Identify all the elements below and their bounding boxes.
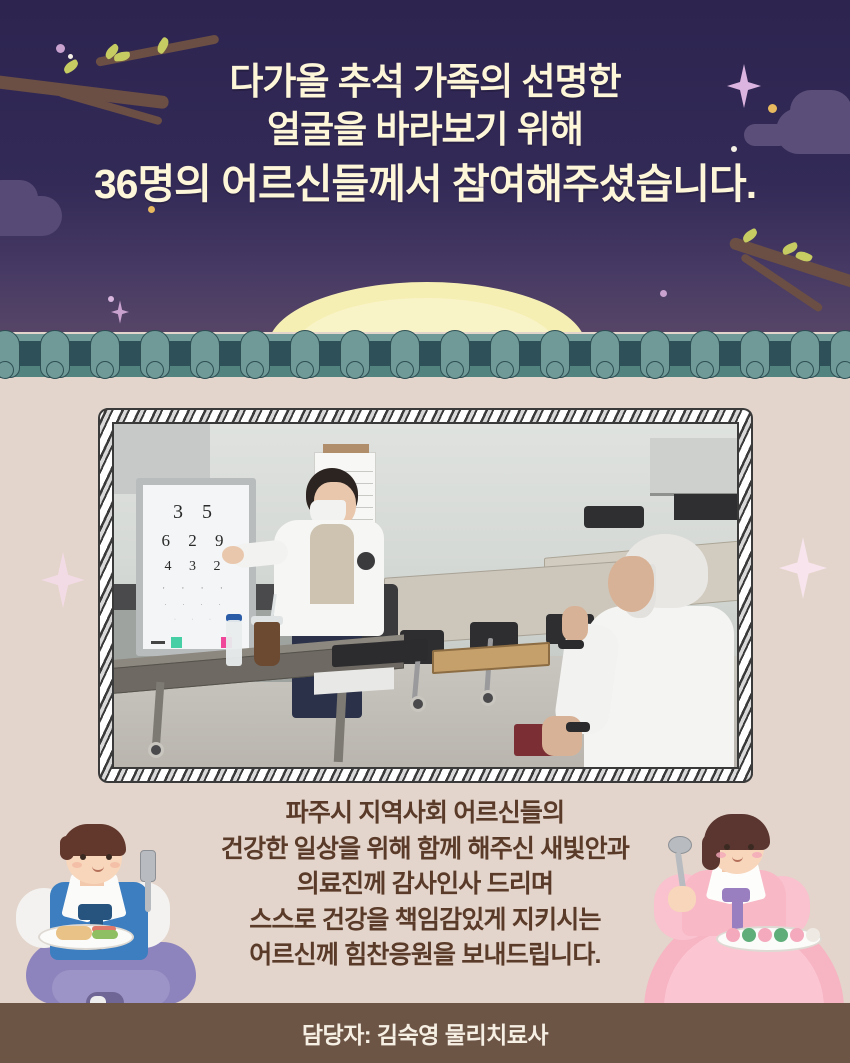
sparkle-icon [778, 537, 828, 599]
sparkle-icon [111, 300, 129, 324]
roof-tile [390, 330, 420, 378]
roof-tile [340, 330, 370, 378]
headline-line-1: 다가올 추석 가족의 선명한 [0, 58, 850, 106]
roof-tile [640, 330, 670, 378]
roof-tile [0, 330, 20, 378]
roof-tile [190, 330, 220, 378]
roof-tile [790, 330, 820, 378]
hanbok-man-illustration [22, 820, 212, 1020]
roof-tile [590, 330, 620, 378]
leaf-icon [741, 228, 759, 244]
roof-tile [490, 330, 520, 378]
background-shelf [650, 438, 739, 496]
headline: 다가올 추석 가족의 선명한 얼굴을 바라보기 위해 36명의 어르신들께서 참… [0, 58, 850, 211]
iced-coffee-cup [254, 622, 280, 666]
eye-chart-row-1: 3 5 [143, 501, 249, 524]
sparkle-icon [41, 552, 85, 608]
roof-tile [690, 330, 720, 378]
headline-line-2: 얼굴을 바라보기 위해 [0, 106, 850, 154]
eye-chart-row-5: · · · · [143, 601, 249, 609]
photo-frame: 3 5 6 2 9 4 3 2 · · · · · · · · · · · [98, 408, 753, 783]
footer-staff-credit: 담당자: 김숙영 물리치료사 [0, 1016, 850, 1050]
roof-tile [830, 330, 850, 378]
roof-tile [140, 330, 170, 378]
roof-tile [90, 330, 120, 378]
star-dot [660, 290, 667, 297]
roof-tile [540, 330, 570, 378]
water-bottle [226, 620, 242, 666]
roof-tile [240, 330, 270, 378]
ladle-icon [668, 836, 692, 854]
headline-line-3: 36명의 어르신들께서 참여해주셨습니다. [0, 158, 850, 211]
event-photo: 3 5 6 2 9 4 3 2 · · · · · · · · · · · [112, 422, 739, 769]
roof-tile [440, 330, 470, 378]
promo-card: 다가올 추석 가족의 선명한 얼굴을 바라보기 위해 36명의 어르신들께서 참… [0, 0, 850, 1063]
hanbok-woman-illustration [648, 818, 848, 1023]
roof-tile [290, 330, 320, 378]
roof-tile [740, 330, 770, 378]
eye-chart-green-marker [171, 637, 182, 648]
eye-chart-row-4: · · · · [143, 583, 249, 593]
roof-tile-band [0, 330, 850, 382]
star-dot [56, 44, 65, 53]
roof-tile [40, 330, 70, 378]
